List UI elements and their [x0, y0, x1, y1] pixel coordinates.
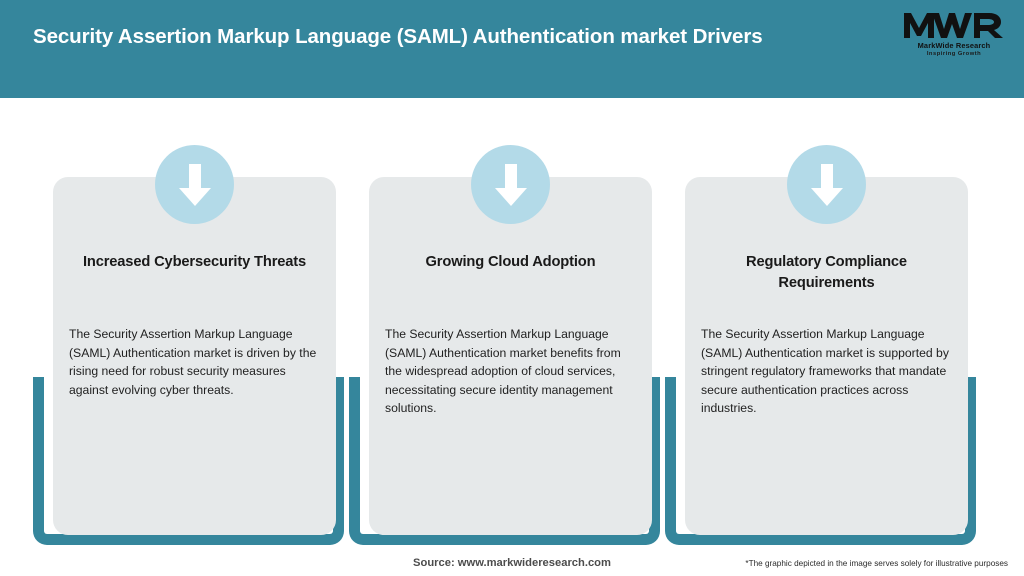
driver-card-group: Regulatory Compliance Requirements The S… — [661, 0, 1001, 576]
driver-card-group: Growing Cloud Adoption The Security Asse… — [345, 0, 685, 576]
disclaimer-label: *The graphic depicted in the image serve… — [745, 559, 1008, 568]
driver-card-group: Increased Cybersecurity Threats The Secu… — [29, 0, 369, 576]
driver-card[interactable]: Increased Cybersecurity Threats The Secu… — [53, 177, 336, 535]
driver-card[interactable]: Regulatory Compliance Requirements The S… — [685, 177, 968, 535]
down-arrow-icon — [787, 145, 866, 224]
card-body: The Security Assertion Markup Language (… — [385, 325, 640, 418]
card-title: Increased Cybersecurity Threats — [71, 252, 318, 273]
card-title: Growing Cloud Adoption — [387, 252, 634, 273]
card-body: The Security Assertion Markup Language (… — [69, 325, 324, 399]
down-arrow-icon — [471, 145, 550, 224]
card-body: The Security Assertion Markup Language (… — [701, 325, 956, 418]
driver-card[interactable]: Growing Cloud Adoption The Security Asse… — [369, 177, 652, 535]
card-title: Regulatory Compliance Requirements — [703, 252, 950, 295]
down-arrow-icon — [155, 145, 234, 224]
